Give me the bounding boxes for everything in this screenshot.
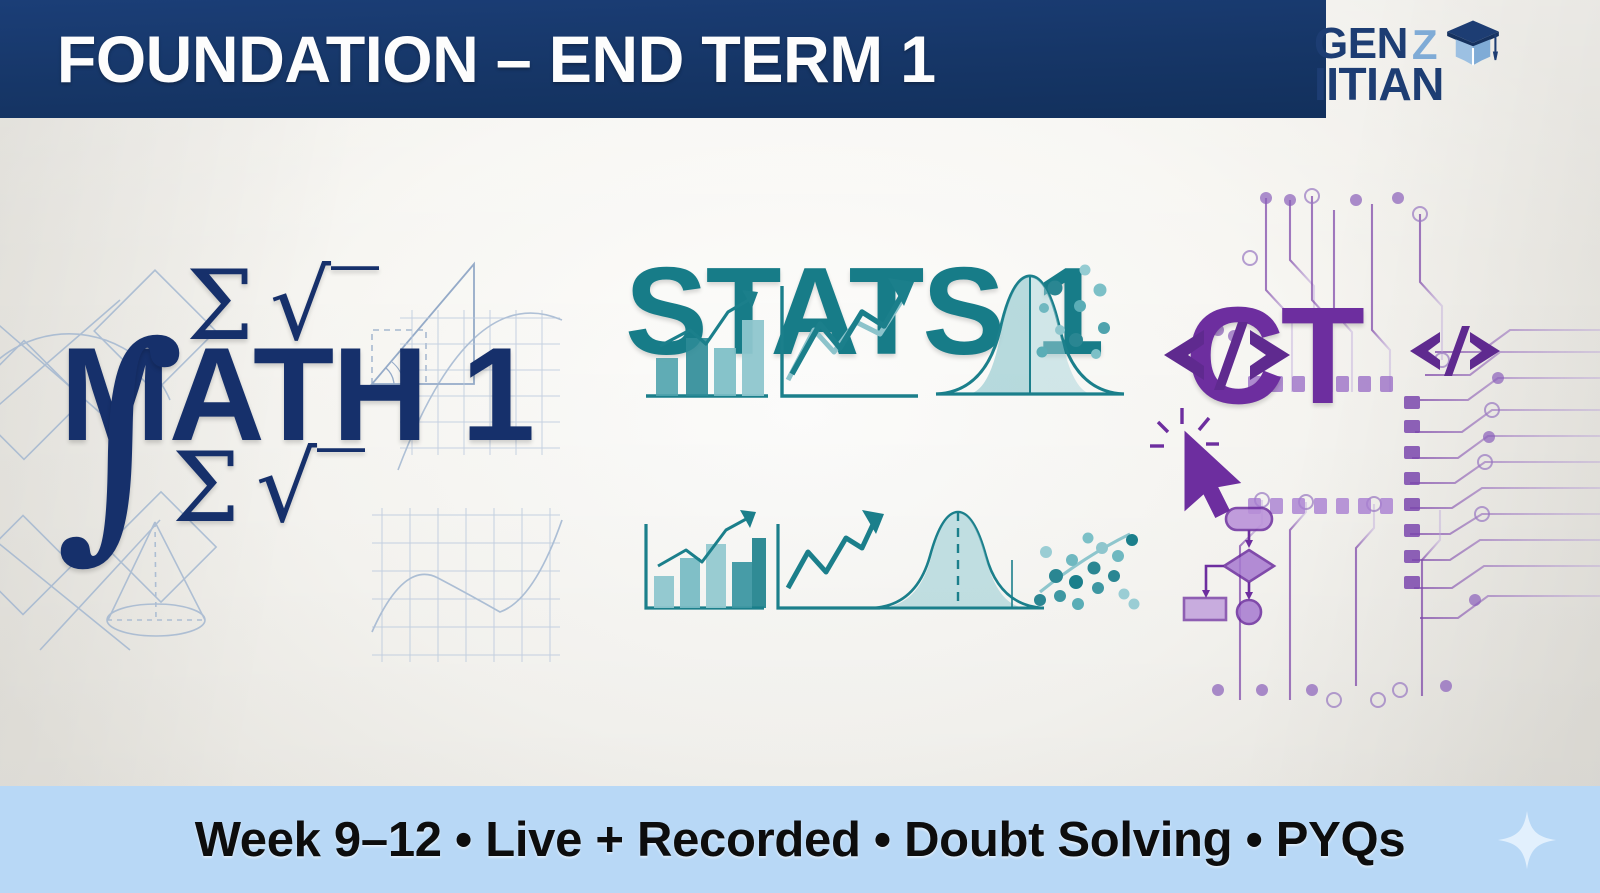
integral-sign-glyph: ∫ [55,363,185,513]
subject-label-stats: STATS 1 [625,260,1102,365]
page-title: FOUNDATION – END TERM 1 [0,26,936,92]
footer-details-text: Week 9–12 • Live + Recorded • Doubt Solv… [195,812,1406,868]
subject-math: ∫ Σ √‾ MATH 1 Σ √‾ [60,268,533,527]
footer-bar: Week 9–12 • Live + Recorded • Doubt Solv… [0,786,1600,893]
subject-label-ct: CT [1185,298,1361,415]
brand-logo[interactable]: GEN Z IITIAN [1314,6,1582,118]
subject-ct: CT [1185,298,1361,415]
square-root-glyph-2: √‾ [256,450,365,527]
course-banner: θ [0,0,1600,893]
header-bar: FOUNDATION – END TERM 1 [0,0,1326,118]
subject-stats: STATS 1 [625,260,1102,365]
logo-text-iitian: IITIAN [1314,61,1444,107]
four-point-star-icon [1496,809,1558,871]
graduation-cap-book-icon [1445,17,1501,67]
subject-stage: ∫ Σ √‾ MATH 1 Σ √‾ STATS 1 CT [0,118,1600,786]
